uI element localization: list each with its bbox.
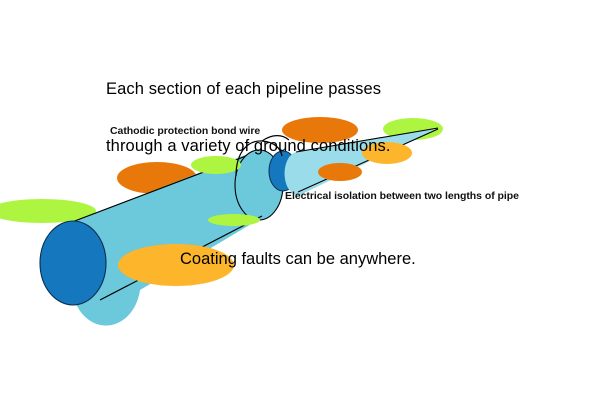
label-electrical-isolation: Electrical isolation between two lengths… [285, 190, 519, 202]
page-title-line-1: Each section of each pipeline passes [106, 80, 391, 99]
page-title-line-2: through a variety of ground conditions. [106, 137, 391, 156]
ground-patch-green-mid-lower [208, 214, 260, 226]
page-title: Each section of each pipeline passes thr… [106, 42, 391, 175]
label-coating-faults: Coating faults can be anywhere. [180, 250, 416, 269]
pipe-end-cap [40, 221, 106, 305]
label-cathodic-protection-bond-wire: Cathodic protection bond wire [110, 125, 260, 137]
